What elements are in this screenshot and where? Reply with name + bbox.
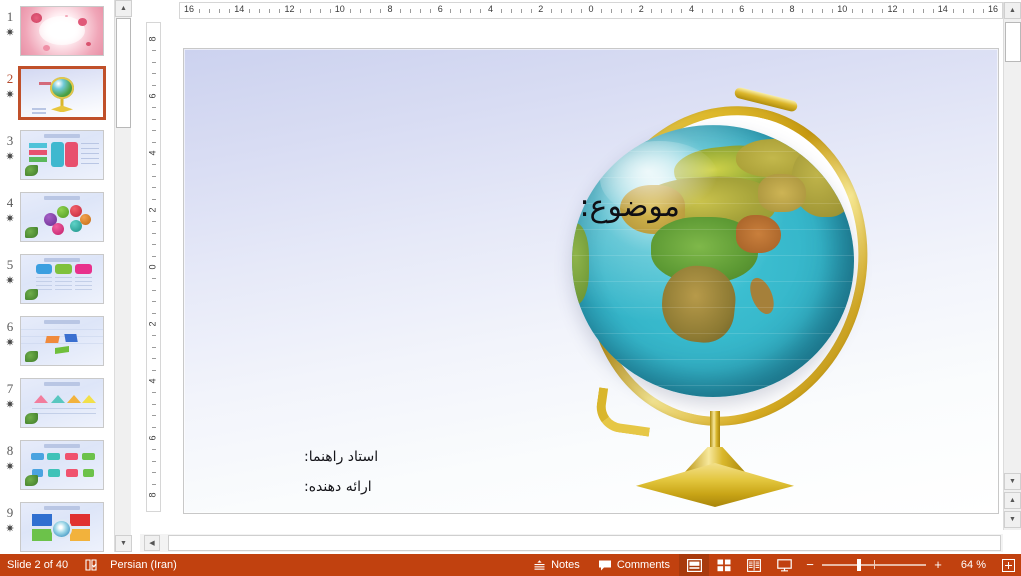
ruler-tick <box>802 9 803 13</box>
scroll-down-icon[interactable]: ▼ <box>1004 473 1021 490</box>
ruler-tick <box>903 9 904 13</box>
zoom-out-button[interactable]: − <box>805 560 815 570</box>
previous-slide-icon[interactable]: ▲ <box>1004 492 1021 509</box>
animation-star-icon: ✷ <box>0 337 20 349</box>
comments-button[interactable]: Comments <box>589 554 679 576</box>
ruler-tick <box>812 9 813 13</box>
thumbnail-number: 7 <box>7 381 14 396</box>
ruler-tick <box>152 449 156 450</box>
ruler-tick <box>420 9 421 13</box>
ruler-tick <box>152 244 156 245</box>
scroll-up-icon[interactable]: ▲ <box>115 0 132 17</box>
ruler-tick <box>152 233 156 234</box>
ruler-tick <box>872 9 873 13</box>
ruler-tick <box>152 62 156 63</box>
ruler-tick <box>601 9 602 13</box>
horizontal-scroll-track[interactable] <box>168 535 1001 551</box>
ruler-tick <box>651 9 652 13</box>
ruler-tick <box>249 9 250 13</box>
ruler-tick <box>963 9 964 13</box>
ruler-tick <box>661 9 662 13</box>
ruler-tick <box>152 347 156 348</box>
thumbnail-preview[interactable] <box>20 502 104 552</box>
thumbnail-meta: 7 ✷ <box>0 378 20 411</box>
ruler-tick <box>983 9 984 13</box>
horizontal-ruler: 1614121086420246810121416 <box>179 2 1003 19</box>
powerpoint-window: 1 ✷ 2 ✷ 3 ✷ <box>0 0 1021 576</box>
scroll-left-icon[interactable]: ◀ <box>144 535 160 551</box>
ruler-tick <box>360 9 361 13</box>
thumbnail-meta: 8 ✷ <box>0 440 20 473</box>
thumbnail-preview[interactable] <box>18 66 106 120</box>
ruler-tick <box>269 9 270 13</box>
ruler-label: 4 <box>148 378 158 383</box>
slide-editing-surface[interactable]: موضوع: استاد راهنما: ارائه دهنده: <box>183 48 999 514</box>
slide-thumbnail-2[interactable]: 2 ✷ <box>0 62 114 124</box>
thumbnail-number: 6 <box>7 319 14 334</box>
ruler-tick <box>219 9 220 13</box>
ruler-tick <box>702 9 703 13</box>
thumbnail-meta: 6 ✷ <box>0 316 20 349</box>
ruler-tick <box>712 9 713 13</box>
thumbnail-pane-scrollbar[interactable]: ▲ ▼ <box>114 0 131 552</box>
ruler-tick <box>882 9 883 13</box>
ruler-label: 14 <box>938 4 948 14</box>
ruler-label: 0 <box>148 264 158 269</box>
animation-star-icon: ✷ <box>0 213 20 225</box>
ruler-tick <box>862 9 863 13</box>
ruler-tick <box>152 187 156 188</box>
ruler-tick <box>380 9 381 13</box>
ruler-tick <box>752 9 753 13</box>
slide-vertical-scrollbar[interactable]: ▲ ▼ ▲ ▼ <box>1003 2 1021 530</box>
comments-label: Comments <box>617 559 670 571</box>
slide-canvas-area[interactable]: موضوع: استاد راهنما: ارائه دهنده: <box>163 22 1003 530</box>
thumbnail-meta: 3 ✷ <box>0 130 20 163</box>
ruler-label: 8 <box>148 492 158 497</box>
zoom-slider[interactable] <box>822 559 926 571</box>
slide-horizontal-scrollbar[interactable]: ◀ <box>140 534 1003 552</box>
slide-thumbnail-8[interactable]: 8 ✷ <box>0 434 114 496</box>
slide-thumbnail-3[interactable]: 3 ✷ <box>0 124 114 186</box>
animation-star-icon: ✷ <box>0 523 20 535</box>
ruler-tick <box>152 73 156 74</box>
notes-label: Notes <box>551 559 580 571</box>
scroll-up-icon[interactable]: ▲ <box>1004 2 1021 19</box>
ruler-tick <box>852 9 853 13</box>
ruler-tick <box>152 404 156 405</box>
slide-thumbnail-5[interactable]: 5 ✷ <box>0 248 114 310</box>
ruler-tick <box>923 9 924 13</box>
thumbnail-number: 3 <box>7 133 14 148</box>
ruler-label: 6 <box>148 93 158 98</box>
thumbnail-preview[interactable] <box>20 378 104 428</box>
ruler-tick <box>152 335 156 336</box>
scrollbar-thumb[interactable] <box>116 18 131 128</box>
thumbnail-preview[interactable] <box>20 316 104 366</box>
ruler-tick <box>152 107 156 108</box>
ruler-tick <box>732 9 733 13</box>
slide-title-text[interactable]: موضوع: <box>579 189 680 224</box>
view-buttons-group <box>679 554 799 576</box>
ruler-label: 2 <box>538 4 543 14</box>
ruler-tick <box>782 9 783 13</box>
animation-star-icon: ✷ <box>0 399 20 411</box>
ruler-tick <box>762 9 763 13</box>
ruler-label: 2 <box>639 4 644 14</box>
thumbnail-preview[interactable] <box>20 192 104 242</box>
ruler-tick <box>152 50 156 51</box>
ruler-label: 2 <box>148 321 158 326</box>
ruler-label: 8 <box>789 4 794 14</box>
thumbnail-number: 1 <box>7 9 14 24</box>
ruler-label: 12 <box>284 4 294 14</box>
scroll-down-icon[interactable]: ▼ <box>115 535 132 552</box>
ruler-tick <box>152 256 156 257</box>
slide-thumbnail-1[interactable]: 1 ✷ <box>0 0 114 62</box>
ruler-tick <box>152 392 156 393</box>
thumbnail-number: 9 <box>7 505 14 520</box>
slide-thumbnail-4[interactable]: 4 ✷ <box>0 186 114 248</box>
ruler-tick <box>279 9 280 13</box>
zoom-slider-tick <box>874 560 875 569</box>
ruler-tick <box>561 9 562 13</box>
ruler-tick <box>152 130 156 131</box>
thumbnail-preview[interactable] <box>20 130 104 180</box>
ruler-label: 6 <box>438 4 443 14</box>
view-normal-button[interactable] <box>679 554 709 576</box>
ruler-tick <box>152 427 156 428</box>
ruler-tick <box>152 484 156 485</box>
fit-to-window-button[interactable] <box>1002 559 1015 572</box>
animation-star-icon: ✷ <box>0 275 20 287</box>
ruler-tick <box>152 370 156 371</box>
ruler-tick <box>152 199 156 200</box>
ruler-tick <box>152 164 156 165</box>
ruler-tick <box>722 9 723 13</box>
ruler-tick <box>460 9 461 13</box>
ruler-tick <box>450 9 451 13</box>
ruler-label: 10 <box>837 4 847 14</box>
slide-subtitle-line-2[interactable]: ارائه دهنده: <box>304 479 372 495</box>
thumbnail-number: 5 <box>7 257 14 272</box>
globe-base-icon <box>636 463 794 507</box>
globe-left-arm-icon <box>593 387 654 436</box>
ruler-tick <box>511 9 512 13</box>
ruler-tick <box>152 472 156 473</box>
ruler-tick <box>310 9 311 13</box>
slide-counter[interactable]: Slide 2 of 40 <box>0 554 76 576</box>
ruler-tick <box>521 9 522 13</box>
ruler-tick <box>531 9 532 13</box>
thumbnail-meta: 2 ✷ <box>0 68 20 101</box>
ruler-tick <box>229 9 230 13</box>
ruler-tick <box>933 9 934 13</box>
slide-thumbnail-9[interactable]: 9 ✷ <box>0 496 114 552</box>
ruler-tick <box>152 313 156 314</box>
ruler-label: 6 <box>739 4 744 14</box>
thumbnail-number: 4 <box>7 195 14 210</box>
zoom-slider-thumb[interactable] <box>857 559 861 571</box>
ruler-label: 14 <box>234 4 244 14</box>
ruler-tick <box>973 9 974 13</box>
ruler-tick <box>571 9 572 13</box>
slide-thumbnail-pane[interactable]: 1 ✷ 2 ✷ 3 ✷ <box>0 0 114 552</box>
vertical-ruler: 864202468 <box>146 22 161 512</box>
ruler-tick <box>152 278 156 279</box>
ruler-tick <box>681 9 682 13</box>
ruler-tick <box>671 9 672 13</box>
ruler-tick <box>330 9 331 13</box>
next-slide-icon[interactable]: ▼ <box>1004 511 1021 528</box>
ruler-tick <box>152 415 156 416</box>
ruler-tick <box>410 9 411 13</box>
animation-star-icon: ✷ <box>0 27 20 39</box>
ruler-label: 4 <box>488 4 493 14</box>
ruler-label: 0 <box>588 4 593 14</box>
ruler-tick <box>152 85 156 86</box>
ruler-tick <box>152 176 156 177</box>
ruler-tick <box>152 290 156 291</box>
thumbnail-meta: 1 ✷ <box>0 6 20 39</box>
ruler-tick <box>300 9 301 13</box>
ruler-tick <box>370 9 371 13</box>
ruler-tick <box>822 9 823 13</box>
comments-icon <box>598 559 612 571</box>
zoom-percentage[interactable]: 64 % <box>950 559 986 571</box>
ruler-tick <box>621 9 622 13</box>
ruler-label: 16 <box>988 4 998 14</box>
ruler-tick <box>832 9 833 13</box>
ruler-tick <box>400 9 401 13</box>
ruler-tick <box>152 358 156 359</box>
animation-star-icon: ✷ <box>0 89 20 101</box>
language-indicator[interactable]: Persian (Iran) <box>106 554 185 576</box>
ruler-tick <box>320 9 321 13</box>
thumbnail-preview[interactable] <box>20 6 104 56</box>
ruler-tick <box>470 9 471 13</box>
ruler-tick <box>152 142 156 143</box>
animation-star-icon: ✷ <box>0 461 20 473</box>
globe-image[interactable] <box>544 91 899 501</box>
ruler-label: 16 <box>184 4 194 14</box>
ruler-tick <box>199 9 200 13</box>
ruler-tick <box>480 9 481 13</box>
slide-thumbnail-6[interactable]: 6 ✷ <box>0 310 114 372</box>
notes-button[interactable]: Notes <box>524 554 589 576</box>
ruler-tick <box>152 119 156 120</box>
status-bar: Slide 2 of 40 Persian (Iran) Notes <box>0 554 1021 576</box>
thumbnail-number: 8 <box>7 443 14 458</box>
ruler-label: 12 <box>887 4 897 14</box>
ruler-label: 4 <box>689 4 694 14</box>
ruler-tick <box>611 9 612 13</box>
ruler-label: 8 <box>387 4 392 14</box>
ruler-tick <box>772 9 773 13</box>
ruler-label: 2 <box>148 207 158 212</box>
thumbnail-preview[interactable] <box>20 440 104 490</box>
ruler-tick <box>152 301 156 302</box>
ruler-tick <box>631 9 632 13</box>
slide-subtitle-line-1[interactable]: استاد راهنما: <box>304 449 378 465</box>
ruler-tick <box>430 9 431 13</box>
ruler-label: 4 <box>148 150 158 155</box>
ruler-tick <box>581 9 582 13</box>
ruler-tick <box>152 461 156 462</box>
view-slide-show-button[interactable] <box>769 554 799 576</box>
thumbnail-number: 2 <box>7 71 14 86</box>
globe-sphere-icon <box>572 125 854 397</box>
ruler-tick <box>209 9 210 13</box>
ruler-tick <box>259 9 260 13</box>
thumbnail-meta: 4 ✷ <box>0 192 20 225</box>
ruler-label: 10 <box>335 4 345 14</box>
ruler-tick <box>152 221 156 222</box>
spell-check-icon[interactable] <box>76 554 106 576</box>
view-slide-sorter-button[interactable] <box>709 554 739 576</box>
zoom-control[interactable]: − + 64 % <box>799 559 1021 572</box>
view-reading-button[interactable] <box>739 554 769 576</box>
ruler-label: 8 <box>148 36 158 41</box>
thumbnail-meta: 5 ✷ <box>0 254 20 287</box>
ruler-label: 6 <box>148 435 158 440</box>
notes-icon <box>533 559 546 571</box>
thumbnail-meta: 9 ✷ <box>0 502 20 535</box>
animation-star-icon: ✷ <box>0 151 20 163</box>
slide-thumbnail-7[interactable]: 7 ✷ <box>0 372 114 434</box>
ruler-tick <box>913 9 914 13</box>
zoom-in-button[interactable]: + <box>933 560 943 570</box>
ruler-tick <box>551 9 552 13</box>
ruler-tick <box>501 9 502 13</box>
ruler-tick <box>350 9 351 13</box>
scrollbar-thumb[interactable] <box>1005 22 1021 62</box>
thumbnail-preview[interactable] <box>20 254 104 304</box>
ruler-tick <box>953 9 954 13</box>
